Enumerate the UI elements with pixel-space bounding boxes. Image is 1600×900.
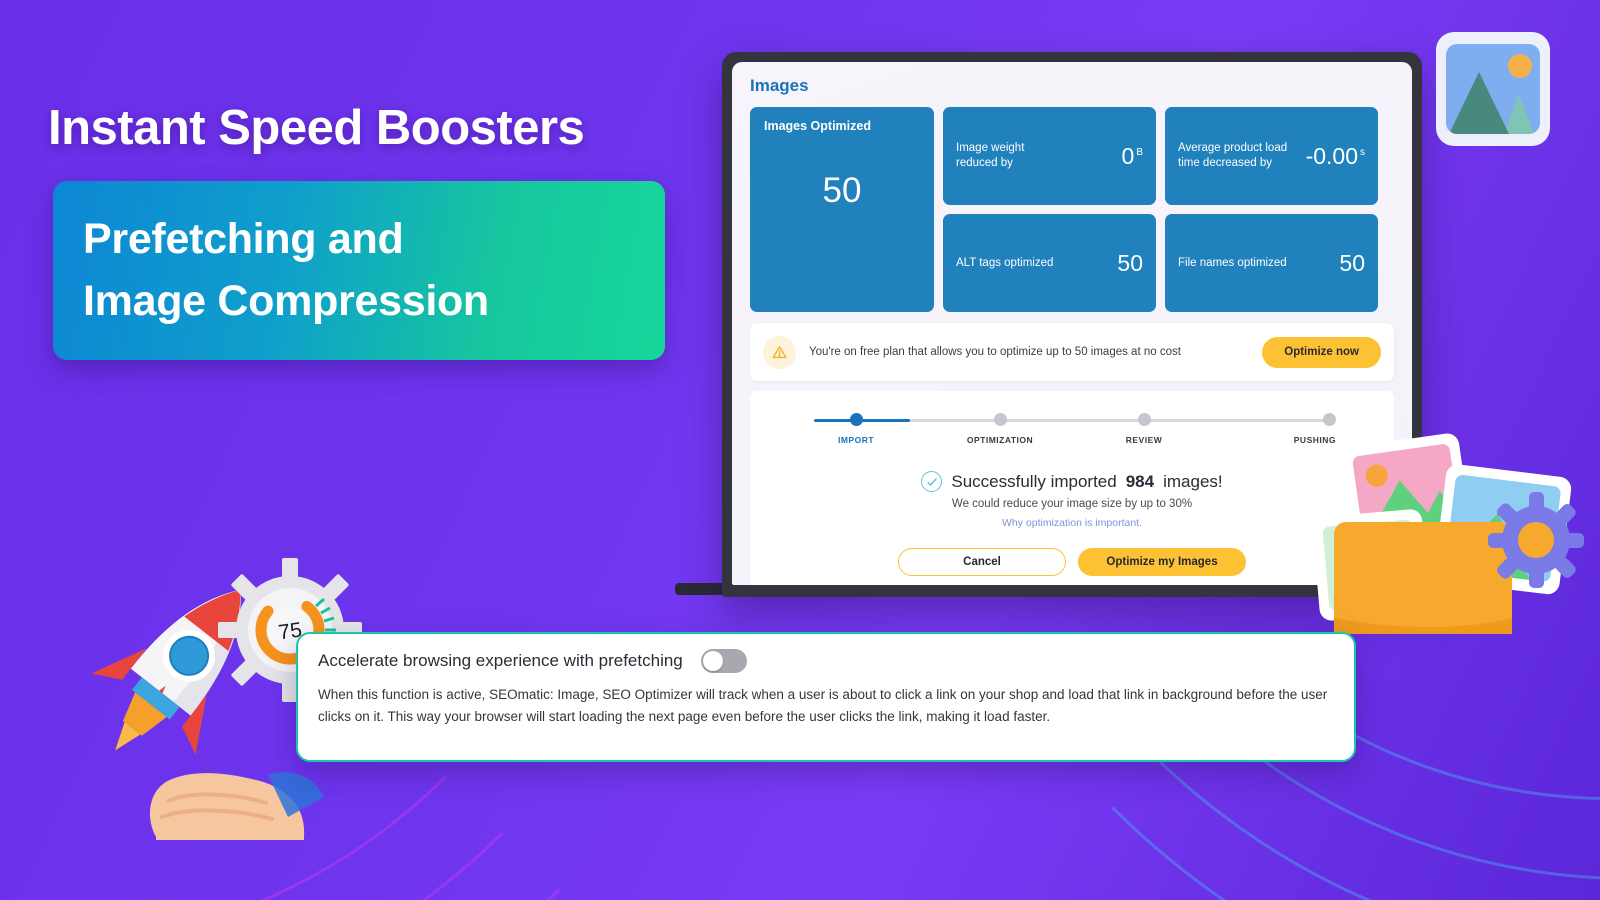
stat-number: 0 [1122,143,1135,169]
folder-with-photos-illustration [1296,418,1586,653]
step-label: IMPORT [838,435,874,445]
stat-value: 50 [1339,250,1365,277]
stat-card-image-weight: Image weight reduced by 0B [943,107,1156,205]
import-success-message: Successfully imported 984 images! [808,471,1336,492]
optimize-now-button[interactable]: Optimize now [1262,337,1381,368]
step-label: OPTIMIZATION [967,435,1033,445]
stat-label: File names optimized [1178,256,1287,271]
step-dot [994,413,1007,426]
subtitle-line-2: Image Compression [83,271,635,332]
page-title: Instant Speed Boosters [48,100,584,156]
stat-card-images-optimized: Images Optimized 50 [750,107,934,312]
stat-value: 50 [1117,250,1143,277]
stat-label: Images Optimized [764,119,920,133]
stat-unit: s [1360,147,1365,158]
import-result: Successfully imported 984 images! We cou… [808,471,1336,531]
banner-message: You're on free plan that allows you to o… [809,346,1249,358]
free-plan-banner: You're on free plan that allows you to o… [750,323,1394,381]
flow-action-buttons: Cancel Optimize my Images [808,548,1336,576]
prefetch-settings-panel: Accelerate browsing experience with pref… [296,632,1356,762]
step-optimization[interactable]: OPTIMIZATION [952,413,1048,445]
step-label: REVIEW [1126,435,1163,445]
import-subtext: We could reduce your image size by up to… [808,498,1336,510]
import-count: 984 [1126,472,1154,492]
stat-label: Image weight reduced by [956,141,1068,170]
why-optimization-link[interactable]: Why optimization is important. [1002,517,1142,529]
image-photo-icon [1434,30,1552,153]
subtitle-line-1: Prefetching and [83,209,635,270]
step-review[interactable]: REVIEW [1096,413,1192,445]
progress-stepper: IMPORT OPTIMIZATION REVIEW PUSHING [808,413,1336,445]
stat-value: -0.00s [1306,143,1365,170]
optimize-my-images-button[interactable]: Optimize my Images [1078,548,1246,576]
stat-value: 0B [1122,143,1143,170]
step-dot [1138,413,1151,426]
stats-grid: Images Optimized 50 Image weight reduced… [750,107,1394,312]
step-pushing[interactable]: PUSHING [1240,413,1336,445]
stat-unit: B [1136,147,1143,158]
stat-card-file-names: File names optimized 50 [1165,214,1378,312]
cancel-button[interactable]: Cancel [898,548,1066,576]
subtitle-card: Prefetching and Image Compression [53,181,665,360]
stat-value: 50 [764,171,920,211]
toggle-knob [703,651,723,671]
stat-label: Average product load time decreased by [1178,141,1290,170]
check-circle-icon [921,471,942,492]
step-dot [850,413,863,426]
stat-card-load-time: Average product load time decreased by -… [1165,107,1378,205]
app-section-title: Images [750,76,1394,96]
stats-column-left: Image weight reduced by 0B ALT tags opti… [943,107,1156,312]
prefetch-header: Accelerate browsing experience with pref… [318,649,1334,673]
step-dot [1323,413,1336,426]
stat-number: -0.00 [1306,143,1358,169]
stat-label: ALT tags optimized [956,256,1053,271]
prefetch-toggle-switch[interactable] [701,649,747,673]
prefetch-description: When this function is active, SEOmatic: … [318,684,1334,728]
warning-triangle-icon [763,336,796,369]
stats-column-right: Average product load time decreased by -… [1165,107,1378,312]
import-prefix: Successfully imported [951,472,1116,492]
step-label: PUSHING [1294,435,1336,445]
step-import[interactable]: IMPORT [808,413,904,445]
stat-card-alt-tags: ALT tags optimized 50 [943,214,1156,312]
import-suffix: images! [1163,472,1223,492]
prefetch-title: Accelerate browsing experience with pref… [318,651,683,671]
